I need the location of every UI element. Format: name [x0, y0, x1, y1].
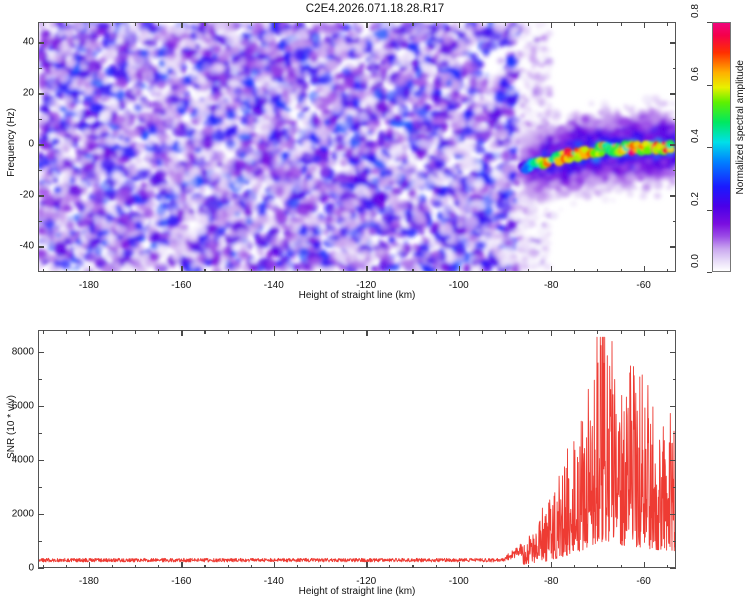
axis-tick	[251, 565, 252, 569]
x-tick-label: -60	[636, 576, 650, 587]
axis-tick	[181, 562, 182, 568]
axis-tick	[667, 22, 668, 26]
axis-tick	[459, 266, 460, 272]
axis-tick	[670, 514, 676, 515]
axis-tick	[366, 562, 367, 568]
axis-tick	[670, 144, 676, 145]
axis-tick	[66, 269, 67, 273]
axis-tick	[158, 22, 159, 26]
axis-tick	[436, 22, 437, 26]
axis-tick	[621, 22, 622, 26]
x-tick-label: -60	[636, 280, 650, 291]
axis-tick	[459, 22, 460, 28]
colorbar-tick	[707, 85, 712, 86]
snr-x-axis-title: Height of straight line (km)	[299, 586, 416, 597]
axis-tick	[673, 170, 677, 171]
colorbar-tick	[707, 22, 712, 23]
axis-tick	[644, 330, 645, 336]
axis-tick	[204, 330, 205, 334]
axis-tick	[574, 269, 575, 273]
axis-tick	[389, 22, 390, 26]
x-tick-label: -180	[79, 576, 99, 587]
axis-tick	[38, 568, 44, 569]
axis-tick	[204, 22, 205, 26]
axis-tick	[274, 266, 275, 272]
axis-tick	[482, 22, 483, 26]
axis-tick	[181, 330, 182, 336]
axis-tick	[574, 330, 575, 334]
axis-tick	[135, 269, 136, 273]
y-tick-label: 8000	[0, 346, 34, 357]
axis-tick	[621, 330, 622, 334]
axis-tick	[389, 565, 390, 569]
axis-tick	[670, 406, 676, 407]
axis-tick	[38, 170, 42, 171]
axis-tick	[112, 269, 113, 273]
axis-tick	[597, 22, 598, 26]
axis-tick	[412, 269, 413, 273]
axis-tick	[251, 330, 252, 334]
axis-tick	[38, 144, 44, 145]
axis-tick	[366, 330, 367, 336]
axis-tick	[670, 568, 676, 569]
axis-tick	[38, 195, 44, 196]
axis-tick	[597, 269, 598, 273]
axis-tick	[673, 68, 677, 69]
axis-tick	[158, 269, 159, 273]
x-tick-label: -140	[264, 576, 284, 587]
x-tick-label: -160	[171, 576, 191, 587]
axis-tick	[528, 22, 529, 26]
axis-tick	[158, 565, 159, 569]
axis-tick	[528, 269, 529, 273]
y-tick-label: 0	[0, 563, 34, 574]
axis-tick	[673, 433, 677, 434]
axis-tick	[297, 565, 298, 569]
axis-tick	[670, 195, 676, 196]
spectrogram-x-axis-title: Height of straight line (km)	[299, 290, 416, 301]
axis-tick	[551, 562, 552, 568]
axis-tick	[297, 330, 298, 334]
axis-tick	[89, 330, 90, 336]
axis-tick	[43, 269, 44, 273]
axis-tick	[135, 22, 136, 26]
colorbar-tick-label: 0.2	[690, 192, 701, 206]
axis-tick	[670, 246, 676, 247]
axis-tick	[89, 266, 90, 272]
axis-tick	[574, 22, 575, 26]
figure-canvas: C2E4.2026.071.18.28.R17 -180-160-140-120…	[0, 0, 750, 600]
axis-tick	[38, 514, 44, 515]
axis-tick	[667, 269, 668, 273]
axis-tick	[670, 42, 676, 43]
axis-tick	[251, 22, 252, 26]
axis-tick	[482, 565, 483, 569]
axis-tick	[320, 330, 321, 334]
axis-tick	[597, 565, 598, 569]
axis-tick	[38, 221, 42, 222]
axis-tick	[43, 22, 44, 26]
axis-tick	[158, 330, 159, 334]
axis-tick	[89, 562, 90, 568]
axis-tick	[38, 246, 44, 247]
snr-y-axis-title: SNR (10 * v/v)	[6, 395, 17, 459]
axis-tick	[112, 565, 113, 569]
axis-tick	[505, 22, 506, 26]
colorbar-tick-label: 0.4	[690, 129, 701, 143]
axis-tick	[597, 330, 598, 334]
axis-tick	[673, 487, 677, 488]
colorbar-tick-label: 0.8	[690, 4, 701, 18]
axis-tick	[66, 565, 67, 569]
axis-tick	[621, 565, 622, 569]
y-tick-label: -40	[8, 241, 34, 252]
axis-tick	[366, 22, 367, 28]
snr-panel	[38, 330, 676, 568]
axis-tick	[89, 22, 90, 28]
axis-tick	[112, 330, 113, 334]
axis-tick	[204, 565, 205, 569]
axis-tick	[181, 22, 182, 28]
spectrogram-plot-area	[39, 23, 675, 271]
axis-tick	[343, 269, 344, 273]
axis-tick	[38, 379, 42, 380]
x-tick-label: -80	[544, 576, 558, 587]
axis-tick	[228, 269, 229, 273]
axis-tick	[38, 42, 44, 43]
axis-tick	[644, 562, 645, 568]
axis-tick	[412, 565, 413, 569]
y-tick-label: 20	[8, 88, 34, 99]
axis-tick	[38, 93, 44, 94]
axis-tick	[228, 22, 229, 26]
axis-tick	[228, 565, 229, 569]
axis-tick	[482, 330, 483, 334]
x-tick-label: -160	[171, 280, 191, 291]
snr-plot-area	[39, 331, 675, 567]
axis-tick	[43, 330, 44, 334]
axis-tick	[204, 269, 205, 273]
axis-tick	[343, 330, 344, 334]
axis-tick	[644, 266, 645, 272]
x-tick-label: -100	[449, 576, 469, 587]
axis-tick	[670, 93, 676, 94]
axis-tick	[343, 565, 344, 569]
axis-tick	[181, 266, 182, 272]
colorbar-tick	[707, 147, 712, 148]
axis-tick	[274, 22, 275, 28]
x-tick-label: -140	[264, 280, 284, 291]
spectrogram-y-axis-title: Frequency (Hz)	[6, 108, 17, 177]
axis-tick	[436, 565, 437, 569]
axis-tick	[274, 330, 275, 336]
axis-tick	[673, 541, 677, 542]
axis-tick	[320, 269, 321, 273]
axis-tick	[366, 266, 367, 272]
snr-line-series	[39, 331, 675, 567]
axis-tick	[436, 269, 437, 273]
axis-tick	[482, 269, 483, 273]
x-tick-label: -80	[544, 280, 558, 291]
axis-tick	[66, 330, 67, 334]
axis-tick	[673, 221, 677, 222]
axis-tick	[551, 266, 552, 272]
colorbar-gradient	[713, 23, 730, 271]
axis-tick	[667, 330, 668, 334]
axis-tick	[412, 22, 413, 26]
axis-tick	[38, 352, 44, 353]
axis-tick	[670, 352, 676, 353]
axis-tick	[38, 68, 42, 69]
axis-tick	[274, 562, 275, 568]
axis-tick	[551, 330, 552, 336]
axis-tick	[389, 330, 390, 334]
axis-tick	[505, 565, 506, 569]
axis-tick	[38, 541, 42, 542]
y-tick-label: -20	[8, 190, 34, 201]
colorbar-tick-label: 0.6	[690, 67, 701, 81]
axis-tick	[436, 330, 437, 334]
axis-tick	[505, 330, 506, 334]
axis-tick	[38, 487, 42, 488]
axis-tick	[38, 460, 44, 461]
snr-trace	[39, 337, 675, 564]
axis-tick	[621, 269, 622, 273]
axis-tick	[297, 22, 298, 26]
axis-tick	[667, 565, 668, 569]
axis-tick	[228, 330, 229, 334]
axis-tick	[38, 406, 44, 407]
axis-tick	[505, 269, 506, 273]
figure-title: C2E4.2026.071.18.28.R17	[0, 3, 750, 15]
axis-tick	[574, 565, 575, 569]
colorbar-tick	[707, 210, 712, 211]
axis-tick	[343, 22, 344, 26]
x-tick-label: -180	[79, 280, 99, 291]
axis-tick	[412, 330, 413, 334]
axis-tick	[551, 22, 552, 28]
spectrogram-image	[39, 23, 675, 271]
y-tick-label: 2000	[0, 508, 34, 519]
colorbar-tick-label: 0.0	[690, 254, 701, 268]
axis-tick	[135, 330, 136, 334]
spectrogram-panel	[38, 22, 676, 272]
axis-tick	[297, 269, 298, 273]
axis-tick	[673, 119, 677, 120]
axis-tick	[528, 565, 529, 569]
axis-tick	[251, 269, 252, 273]
axis-tick	[644, 22, 645, 28]
axis-tick	[112, 22, 113, 26]
axis-tick	[38, 433, 42, 434]
axis-tick	[135, 565, 136, 569]
axis-tick	[38, 119, 42, 120]
axis-tick	[459, 562, 460, 568]
x-tick-label: -100	[449, 280, 469, 291]
axis-tick	[673, 379, 677, 380]
colorbar-tick	[707, 272, 712, 273]
axis-tick	[320, 22, 321, 26]
axis-tick	[320, 565, 321, 569]
axis-tick	[528, 330, 529, 334]
colorbar-title: Normalized spectral amplitude	[735, 60, 746, 195]
axis-tick	[66, 22, 67, 26]
axis-tick	[389, 269, 390, 273]
y-tick-label: 40	[8, 37, 34, 48]
colorbar	[712, 22, 731, 272]
axis-tick	[670, 460, 676, 461]
axis-tick	[459, 330, 460, 336]
